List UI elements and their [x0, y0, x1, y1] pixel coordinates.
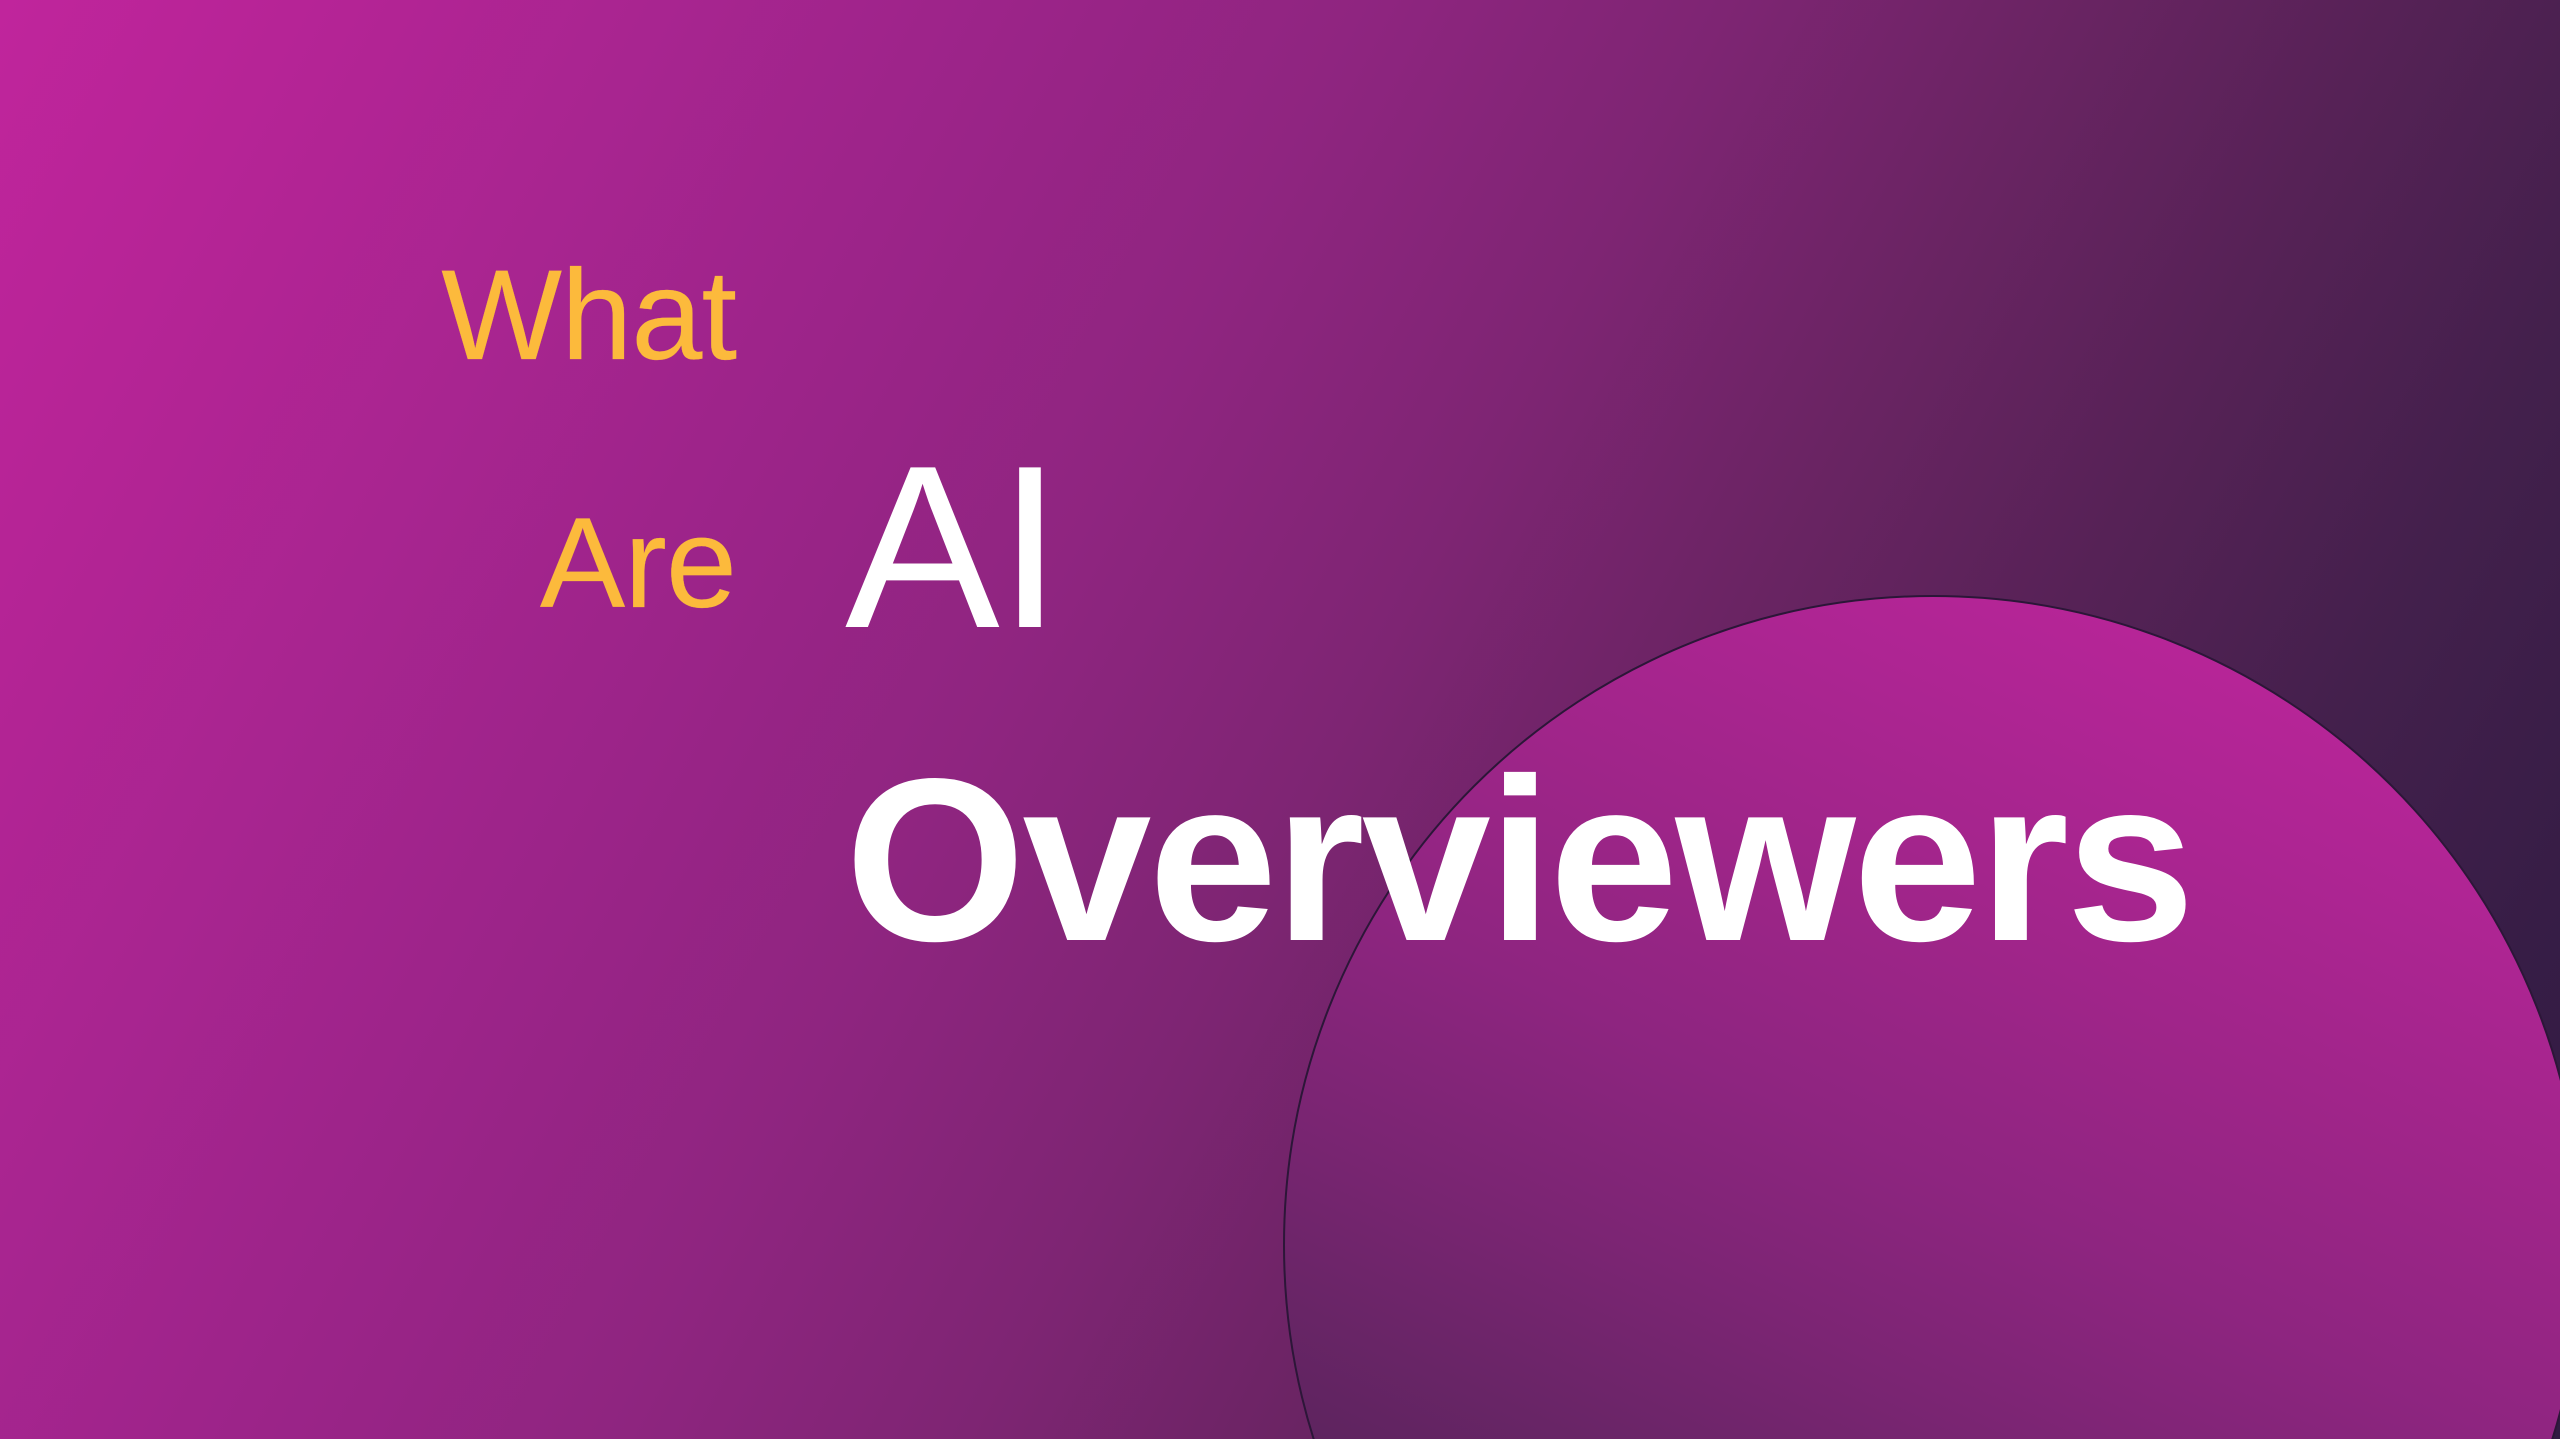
title-text-block: What Are AI Overviewers	[0, 0, 2560, 1439]
headline-line-2: Overviewers	[845, 745, 2192, 977]
kicker-line-1: What	[0, 252, 736, 380]
kicker-line-2: Are	[0, 500, 736, 628]
headline-line-1: AI	[845, 432, 1060, 664]
title-slide: What Are AI Overviewers	[0, 0, 2560, 1439]
